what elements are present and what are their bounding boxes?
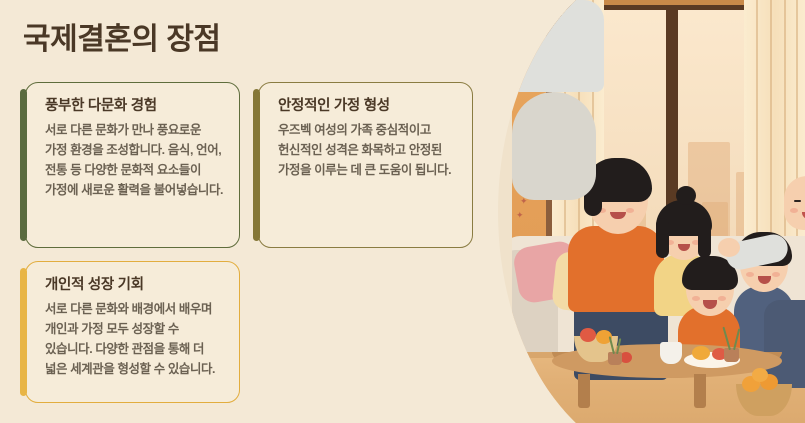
mother-hijab — [512, 92, 596, 200]
mother-hand — [718, 238, 740, 257]
figure-mother — [512, 0, 604, 200]
fruit-apple — [580, 328, 596, 342]
daughter-hair-bun — [676, 186, 696, 205]
benefit-card-personal-growth[interactable]: 개인적 성장 기회 서로 다른 문화와 배경에서 배우며 개인과 가정 모두 성… — [25, 261, 240, 403]
page-title: 국제결혼의 장점 — [23, 14, 221, 58]
content-panel: 국제결혼의 장점 풍부한 다문화 경험 서로 다른 문화가 만나 풍요로운 가정… — [0, 0, 510, 423]
daughter-hair-right — [698, 218, 711, 258]
plant-pot-right — [724, 348, 739, 362]
card-accent-bar — [20, 268, 27, 396]
mother-top — [512, 0, 604, 92]
benefit-card-stable-family[interactable]: 안정적인 가정 형성 우즈벡 여성의 가족 중심적이고 헌신적인 성격은 화목하… — [258, 82, 473, 248]
card-body: 우즈벡 여성의 가족 중심적이고 헌신적인 성격은 화목하고 안정된 가정을 이… — [278, 120, 457, 180]
card-accent-bar — [20, 89, 27, 241]
card-title: 안정적인 가정 형성 — [278, 94, 462, 115]
benefit-card-multicultural-experience[interactable]: 풍부한 다문화 경험 서로 다른 문화가 만나 풍요로운 가정 환경을 조성합니… — [25, 82, 240, 248]
table-leg-right — [694, 374, 706, 408]
card-accent-bar — [253, 89, 260, 241]
slide-root: 국제결혼의 장점 풍부한 다문화 경험 서로 다른 문화가 만나 풍요로운 가정… — [0, 0, 805, 423]
table-leg-left — [578, 374, 590, 408]
daughter-hair-left — [656, 218, 669, 258]
cup — [660, 342, 682, 364]
card-body: 서로 다른 문화와 배경에서 배우며 개인과 가정 모두 성장할 수 있습니다.… — [45, 299, 224, 379]
illustration-scene: ✦ ✦ ✦ — [512, 0, 805, 423]
card-title: 개인적 성장 기회 — [45, 273, 229, 294]
card-title: 풍부한 다문화 경험 — [45, 94, 229, 115]
plate-orange — [692, 346, 710, 360]
family-illustration: ✦ ✦ ✦ — [498, 0, 805, 423]
plant-pot-small — [608, 352, 622, 365]
card-body: 서로 다른 문화가 만나 풍요로운 가정 환경을 조성합니다. 음식, 언어, … — [45, 120, 224, 200]
